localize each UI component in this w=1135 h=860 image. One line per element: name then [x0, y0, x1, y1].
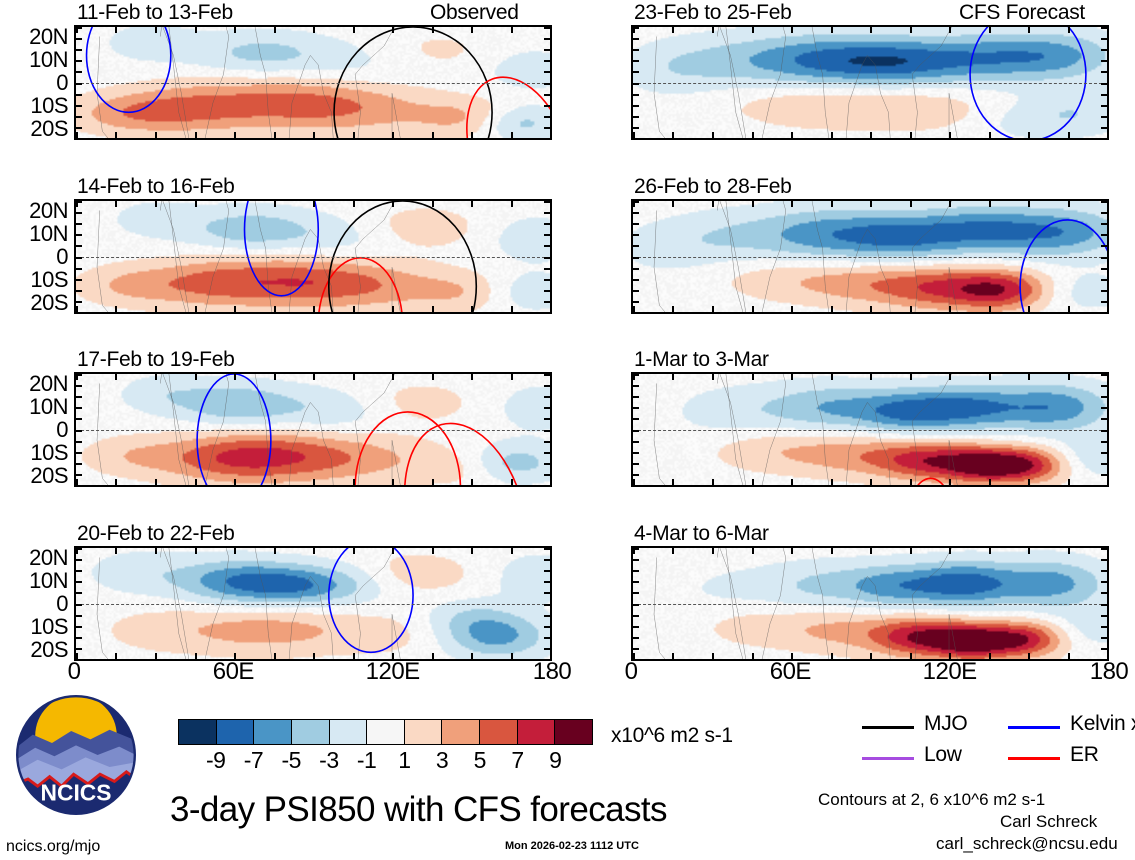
x-tick	[115, 306, 117, 312]
contour-kelvin	[970, 27, 1086, 140]
x-tick-top	[353, 548, 355, 554]
x-tick	[511, 132, 513, 138]
coastline-overlay	[633, 548, 1107, 661]
colorbar-cell-2	[253, 720, 291, 744]
colorbar-cell-6	[404, 720, 442, 744]
y-tick-right	[1101, 268, 1107, 270]
y-tick	[76, 279, 82, 281]
x-tick	[313, 653, 315, 659]
x-tick	[392, 306, 394, 312]
x-tick	[115, 479, 117, 485]
y-tick	[633, 257, 639, 259]
x-tick	[989, 132, 991, 138]
panel-corner-label: Observed	[430, 1, 519, 25]
x-tick	[550, 479, 552, 485]
y-tick	[76, 570, 82, 572]
y-tick-right	[1101, 83, 1107, 85]
y-tick-right	[1101, 279, 1107, 281]
panel-title-2: 17-Feb to 19-Feb	[77, 348, 234, 372]
x-tick-top	[949, 27, 951, 33]
y-tick-right	[1101, 127, 1107, 129]
x-tick	[155, 306, 157, 312]
x-tick-top	[672, 548, 674, 554]
x-tick	[550, 306, 552, 312]
y-tick	[76, 474, 82, 476]
x-tick-top	[910, 201, 912, 207]
contour-kelvin	[87, 27, 171, 112]
y-tick	[76, 626, 82, 628]
x-tick-top	[274, 27, 276, 33]
y-tick	[76, 581, 82, 583]
y-tick-right	[1101, 396, 1107, 398]
x-tick	[989, 479, 991, 485]
y-tick-right	[1101, 474, 1107, 476]
x-tick-top	[155, 374, 157, 380]
y-tick-right	[1101, 581, 1107, 583]
x-tick-top	[870, 548, 872, 554]
map-panel-4	[631, 25, 1109, 140]
colorbar-cell-0	[179, 720, 216, 744]
x-tick	[752, 479, 754, 485]
x-tick	[471, 653, 473, 659]
colorbar-tick-9: 9	[525, 747, 585, 774]
y-tick	[76, 430, 82, 432]
x-tick	[1068, 479, 1070, 485]
x-tick-top	[115, 548, 117, 554]
x-tick-top	[1028, 27, 1030, 33]
y-tick	[76, 396, 82, 398]
y-tick	[633, 60, 639, 62]
x-tick	[712, 653, 714, 659]
x-tick-top	[870, 201, 872, 207]
x-tick-top	[392, 374, 394, 380]
coastline-overlay	[76, 201, 550, 314]
y-tick-right	[1101, 648, 1107, 650]
y-tick	[76, 441, 82, 443]
x-tick-top	[1028, 374, 1030, 380]
y-tick-right	[544, 138, 550, 140]
contour-er	[448, 63, 550, 140]
y-tick-right	[544, 548, 550, 550]
map-panel-1	[74, 199, 552, 314]
y-tick-right	[544, 127, 550, 129]
colorbar-cell-9	[517, 720, 555, 744]
y-axis-label-4: 20S	[0, 463, 68, 489]
y-tick-right	[1101, 604, 1107, 606]
x-tick-top	[550, 201, 552, 207]
x-tick	[432, 132, 434, 138]
y-tick	[76, 615, 82, 617]
legend-label-3: ER	[1070, 743, 1099, 767]
y-tick	[633, 581, 639, 583]
y-axis-label-4: 20S	[0, 116, 68, 142]
y-tick	[633, 290, 639, 292]
x-tick-top	[550, 374, 552, 380]
x-tick	[115, 132, 117, 138]
map-panel-2	[74, 372, 552, 487]
y-tick-right	[544, 71, 550, 73]
y-tick-right	[1101, 290, 1107, 292]
map-panel-3	[74, 546, 552, 661]
y-tick-right	[1101, 116, 1107, 118]
colorbar-cell-1	[216, 720, 254, 744]
y-tick	[76, 83, 82, 85]
x-tick-top	[234, 201, 236, 207]
legend-line-kelvin-x2	[1008, 726, 1060, 729]
y-tick-right	[544, 648, 550, 650]
y-tick	[633, 474, 639, 476]
y-tick	[633, 570, 639, 572]
x-tick-top	[949, 201, 951, 207]
x-tick	[313, 132, 315, 138]
y-tick	[76, 452, 82, 454]
x-tick	[791, 132, 793, 138]
x-tick	[432, 306, 434, 312]
x-tick	[550, 132, 552, 138]
y-tick	[76, 71, 82, 73]
x-tick-top	[471, 201, 473, 207]
x-tick	[471, 306, 473, 312]
y-tick	[633, 648, 639, 650]
x-tick-top	[115, 374, 117, 380]
x-tick-top	[511, 548, 513, 554]
x-tick-top	[353, 374, 355, 380]
x-tick	[672, 132, 674, 138]
y-tick-right	[544, 212, 550, 214]
x-tick-top	[195, 374, 197, 380]
x-tick-top	[1028, 201, 1030, 207]
x-tick-top	[313, 201, 315, 207]
y-tick-right	[544, 234, 550, 236]
y-tick	[76, 245, 82, 247]
x-tick-top	[1028, 548, 1030, 554]
x-tick	[234, 132, 236, 138]
y-tick	[76, 485, 82, 487]
y-tick-right	[544, 418, 550, 420]
equator-line	[76, 83, 550, 84]
colorbar-cell-3	[291, 720, 329, 744]
y-tick-right	[1101, 385, 1107, 387]
coastline-overlay	[76, 27, 550, 140]
contour-kelvin	[245, 201, 319, 296]
y-tick	[76, 60, 82, 62]
legend-line-low	[862, 757, 914, 760]
y-tick	[633, 201, 639, 203]
x-tick	[313, 306, 315, 312]
y-tick	[633, 234, 639, 236]
author-name: Carl Schreck	[1000, 812, 1097, 832]
x-tick	[989, 306, 991, 312]
y-tick	[633, 385, 639, 387]
y-tick-right	[1101, 49, 1107, 51]
y-tick-right	[1101, 485, 1107, 487]
x-tick-top	[831, 27, 833, 33]
coastline-overlay	[633, 374, 1107, 487]
x-tick-top	[752, 201, 754, 207]
y-tick-right	[544, 385, 550, 387]
x-tick	[949, 132, 951, 138]
y-tick	[76, 548, 82, 550]
y-tick	[76, 592, 82, 594]
x-tick-top	[712, 548, 714, 554]
y-tick	[633, 407, 639, 409]
y-tick-right	[544, 245, 550, 247]
y-tick	[633, 604, 639, 606]
y-tick	[76, 604, 82, 606]
y-tick-right	[544, 474, 550, 476]
colorbar-cell-5	[366, 720, 404, 744]
contour-kelvin	[329, 548, 413, 652]
y-tick-right	[544, 452, 550, 454]
y-tick-right	[544, 268, 550, 270]
y-tick	[76, 94, 82, 96]
x-tick-top	[313, 27, 315, 33]
y-tick	[76, 301, 82, 303]
y-tick-right	[544, 116, 550, 118]
x-axis-label-1-1: 60E	[740, 658, 840, 686]
x-tick	[195, 306, 197, 312]
x-tick-top	[672, 27, 674, 33]
x-tick-top	[672, 201, 674, 207]
x-tick-top	[471, 374, 473, 380]
y-tick	[633, 430, 639, 432]
y-tick-right	[544, 105, 550, 107]
logo-text: NCICS	[41, 780, 112, 806]
y-tick-right	[544, 301, 550, 303]
y-tick	[633, 452, 639, 454]
y-tick-right	[544, 38, 550, 40]
x-tick	[1028, 132, 1030, 138]
y-tick	[76, 116, 82, 118]
panel-title-0: 11-Feb to 13-Feb	[77, 1, 233, 25]
y-tick	[633, 626, 639, 628]
x-tick-top	[1068, 548, 1070, 554]
x-axis-label-0-3: 180	[502, 658, 602, 686]
contour-kelvin	[197, 374, 271, 487]
x-tick-top	[870, 374, 872, 380]
y-tick-right	[1101, 38, 1107, 40]
x-tick-top	[471, 27, 473, 33]
x-axis-label-0-2: 120E	[343, 658, 443, 686]
x-tick-top	[274, 374, 276, 380]
x-tick	[831, 306, 833, 312]
legend-line-mjo	[862, 726, 914, 729]
main-title: 3-day PSI850 with CFS forecasts	[170, 790, 667, 830]
y-tick	[76, 290, 82, 292]
y-tick-right	[1101, 234, 1107, 236]
x-tick-top	[274, 548, 276, 554]
x-tick-top	[989, 548, 991, 554]
y-tick	[76, 257, 82, 259]
x-tick-top	[989, 27, 991, 33]
y-tick-right	[544, 407, 550, 409]
colorbar-cell-10	[554, 720, 592, 744]
x-tick	[1028, 306, 1030, 312]
map-panel-6	[631, 372, 1109, 487]
y-tick-right	[1101, 418, 1107, 420]
panel-corner-label: CFS Forecast	[959, 1, 1085, 25]
x-tick	[234, 479, 236, 485]
x-tick	[949, 306, 951, 312]
x-tick-top	[234, 27, 236, 33]
x-tick-top	[752, 27, 754, 33]
colorbar-units-label: x10^6 m2 s-1	[611, 724, 733, 748]
contour-mjo	[334, 27, 492, 140]
x-tick	[870, 479, 872, 485]
y-tick	[76, 105, 82, 107]
y-tick-right	[1101, 559, 1107, 561]
y-tick-right	[544, 49, 550, 51]
timestamp: Mon 2026-02-23 1112 UTC	[505, 840, 639, 852]
y-tick-right	[544, 312, 550, 314]
y-tick-right	[1101, 245, 1107, 247]
x-tick	[831, 479, 833, 485]
x-tick	[155, 132, 157, 138]
y-tick	[633, 418, 639, 420]
colorbar-cell-4	[329, 720, 367, 744]
x-tick-top	[752, 374, 754, 380]
y-tick-right	[1101, 27, 1107, 29]
y-tick-right	[1101, 257, 1107, 259]
x-tick	[353, 132, 355, 138]
x-tick	[672, 479, 674, 485]
x-tick	[752, 306, 754, 312]
map-panel-0	[74, 25, 552, 140]
x-tick-top	[550, 27, 552, 33]
y-tick-right	[544, 290, 550, 292]
y-tick-right	[544, 60, 550, 62]
y-tick-right	[544, 396, 550, 398]
legend-label-0: MJO	[924, 712, 967, 736]
y-tick	[633, 71, 639, 73]
y-tick	[76, 138, 82, 140]
y-tick-right	[1101, 637, 1107, 639]
x-tick	[313, 479, 315, 485]
panel-title-5: 26-Feb to 28-Feb	[634, 175, 791, 199]
site-url: ncics.org/mjo	[6, 838, 100, 856]
x-axis-label-1-3: 180	[1059, 658, 1135, 686]
y-tick-right	[544, 279, 550, 281]
x-tick	[1107, 132, 1109, 138]
x-tick	[274, 479, 276, 485]
colorbar-cell-8	[479, 720, 517, 744]
author-email: carl_schreck@ncsu.edu	[936, 834, 1118, 854]
y-tick	[76, 127, 82, 129]
y-tick-right	[1101, 212, 1107, 214]
y-tick	[76, 268, 82, 270]
y-tick-right	[544, 374, 550, 376]
y-tick-right	[544, 223, 550, 225]
y-tick-right	[544, 581, 550, 583]
x-tick	[752, 132, 754, 138]
x-tick-top	[1068, 201, 1070, 207]
y-tick-right	[544, 83, 550, 85]
x-tick	[432, 479, 434, 485]
x-tick	[353, 306, 355, 312]
y-tick	[76, 49, 82, 51]
equator-line	[633, 604, 1107, 605]
y-tick-right	[1101, 548, 1107, 550]
x-tick-top	[989, 374, 991, 380]
x-tick-top	[115, 27, 117, 33]
x-tick	[511, 479, 513, 485]
y-tick	[633, 127, 639, 129]
y-tick	[76, 418, 82, 420]
y-tick-right	[544, 570, 550, 572]
x-tick	[353, 479, 355, 485]
x-tick-top	[752, 548, 754, 554]
x-tick-top	[155, 27, 157, 33]
x-tick-top	[831, 201, 833, 207]
x-tick-top	[432, 374, 434, 380]
x-tick-top	[432, 201, 434, 207]
x-tick-top	[831, 548, 833, 554]
y-tick-right	[544, 27, 550, 29]
x-tick	[195, 479, 197, 485]
x-tick-top	[550, 548, 552, 554]
y-tick	[76, 637, 82, 639]
x-axis-label-0-1: 60E	[183, 658, 283, 686]
legend-label-1: Kelvin x2	[1070, 712, 1135, 736]
x-tick-top	[234, 374, 236, 380]
y-tick-right	[1101, 615, 1107, 617]
legend-line-er	[1008, 757, 1060, 760]
x-tick-top	[155, 201, 157, 207]
y-tick	[76, 234, 82, 236]
y-tick-right	[1101, 201, 1107, 203]
y-tick	[76, 374, 82, 376]
y-tick-right	[1101, 60, 1107, 62]
y-tick	[633, 485, 639, 487]
equator-line	[76, 430, 550, 431]
x-tick	[949, 479, 951, 485]
x-tick	[672, 306, 674, 312]
y-tick-right	[1101, 570, 1107, 572]
x-tick-top	[949, 374, 951, 380]
y-tick	[633, 94, 639, 96]
y-tick-right	[1101, 312, 1107, 314]
x-tick	[870, 306, 872, 312]
y-tick	[633, 83, 639, 85]
x-tick	[791, 306, 793, 312]
y-tick	[76, 463, 82, 465]
y-tick-right	[544, 485, 550, 487]
x-tick-top	[1107, 201, 1109, 207]
contour-mjo	[329, 201, 477, 314]
x-tick	[791, 479, 793, 485]
y-axis-label-4: 20S	[0, 290, 68, 316]
contour-kelvin	[1020, 220, 1107, 314]
y-tick	[633, 637, 639, 639]
x-tick-top	[870, 27, 872, 33]
y-tick-right	[1101, 138, 1107, 140]
x-tick-top	[432, 548, 434, 554]
y-tick	[633, 441, 639, 443]
y-tick	[633, 559, 639, 561]
panel-title-7: 4-Mar to 6-Mar	[634, 522, 769, 546]
y-tick-right	[1101, 301, 1107, 303]
y-tick-right	[1101, 94, 1107, 96]
x-tick-top	[910, 27, 912, 33]
y-tick-right	[544, 637, 550, 639]
x-tick	[910, 306, 912, 312]
x-tick-top	[1068, 27, 1070, 33]
x-tick	[870, 653, 872, 659]
panel-title-3: 20-Feb to 22-Feb	[77, 522, 234, 546]
y-tick	[76, 212, 82, 214]
x-tick-top	[989, 201, 991, 207]
equator-line	[633, 430, 1107, 431]
